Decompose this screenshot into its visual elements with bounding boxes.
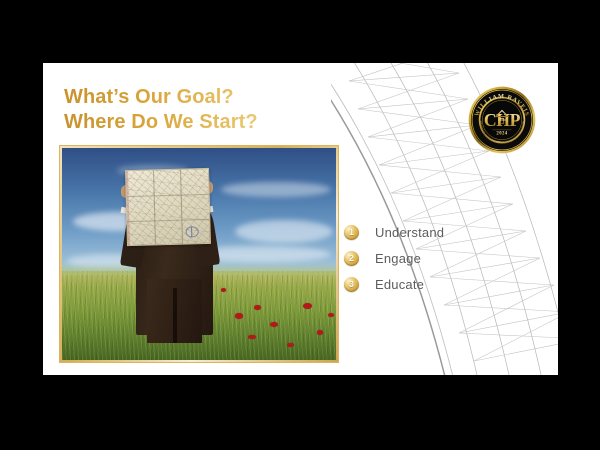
page-title: What’s Our Goal? Where Do We Start? (64, 85, 364, 135)
step-label: Engage (375, 251, 421, 266)
list-item[interactable]: 3 Educate (344, 271, 524, 297)
step-number-badge: 2 (344, 251, 359, 266)
map-fold (154, 171, 157, 245)
poppy-flower (254, 305, 261, 310)
photo-frame (59, 145, 339, 363)
map-fold (128, 220, 210, 223)
seal-monogram: CHP (484, 110, 521, 130)
poppy-flower (221, 288, 226, 292)
list-item[interactable]: 1 Understand (344, 219, 524, 245)
numbered-step-list: 1 Understand 2 Engage 3 Educate (344, 219, 524, 297)
cloud (221, 182, 331, 197)
william-raveis-chp-seal: WILLIAM RAVEIS CERTIFIED HOME OWNERSHIP … (468, 86, 536, 154)
map-fold (181, 170, 184, 244)
step-label: Educate (375, 277, 424, 292)
presentation-slide: What’s Our Goal? Where Do We Start? (43, 63, 558, 375)
step-number: 3 (344, 277, 359, 292)
step-number: 2 (344, 251, 359, 266)
road-map (125, 168, 211, 246)
poppy-flower (303, 303, 312, 309)
photo-man-with-map (62, 148, 336, 360)
title-line-1: What’s Our Goal? (64, 85, 364, 110)
step-label: Understand (375, 225, 444, 240)
poppy-flower (235, 313, 244, 319)
list-item[interactable]: 2 Engage (344, 245, 524, 271)
svg-text:CHP: CHP (484, 110, 521, 130)
step-number-badge: 1 (344, 225, 359, 240)
poppy-flower (317, 330, 324, 334)
map-fold (127, 194, 209, 197)
map-compass-rose (186, 227, 199, 237)
seal-year: 2024 (496, 132, 507, 137)
screenshot-canvas: What’s Our Goal? Where Do We Start? (0, 0, 600, 450)
step-number-badge: 3 (344, 277, 359, 292)
title-line-2: Where Do We Start? (64, 110, 364, 135)
map-edge (126, 171, 130, 245)
person-leg-gap (173, 288, 177, 343)
step-number: 1 (344, 225, 359, 240)
